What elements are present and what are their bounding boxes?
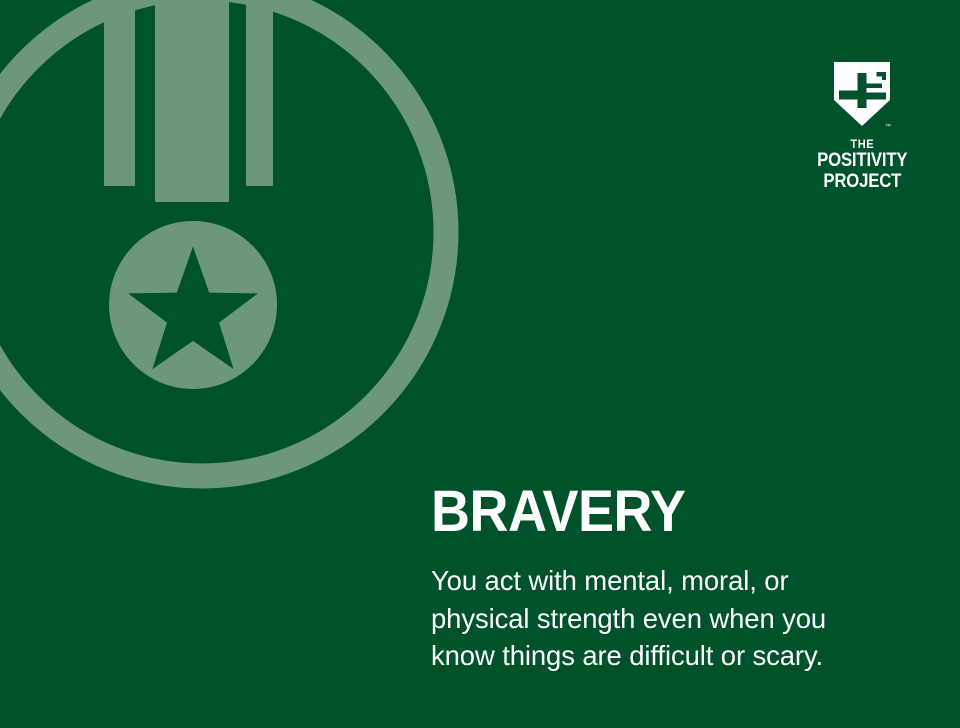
ribbon-bar-left xyxy=(104,0,135,186)
brand-wordmark-line-3: PROJECT xyxy=(817,172,907,191)
ribbon-bar-center xyxy=(155,0,229,202)
decorative-ring xyxy=(0,0,446,476)
ribbon-bar-right xyxy=(246,0,273,186)
strength-content: BRAVERY You act with mental, moral, or p… xyxy=(431,483,871,675)
character-strength-card: ™ THE POSITIVITY PROJECT BRAVERY You act… xyxy=(0,0,960,728)
medal-with-star-icon xyxy=(0,0,520,520)
trademark-symbol: ™ xyxy=(885,123,891,130)
brand-logo: ™ THE POSITIVITY PROJECT xyxy=(788,58,936,191)
brand-wordmark-line-2: POSITIVITY xyxy=(817,151,907,170)
strength-title: BRAVERY xyxy=(431,483,840,541)
positivity-project-shield-icon: ™ xyxy=(830,58,894,130)
brand-wordmark-line-1: THE xyxy=(815,138,909,150)
brand-wordmark: THE POSITIVITY PROJECT xyxy=(811,138,914,191)
strength-description: You act with mental, moral, or physical … xyxy=(431,541,862,675)
medal-disc xyxy=(109,221,277,389)
